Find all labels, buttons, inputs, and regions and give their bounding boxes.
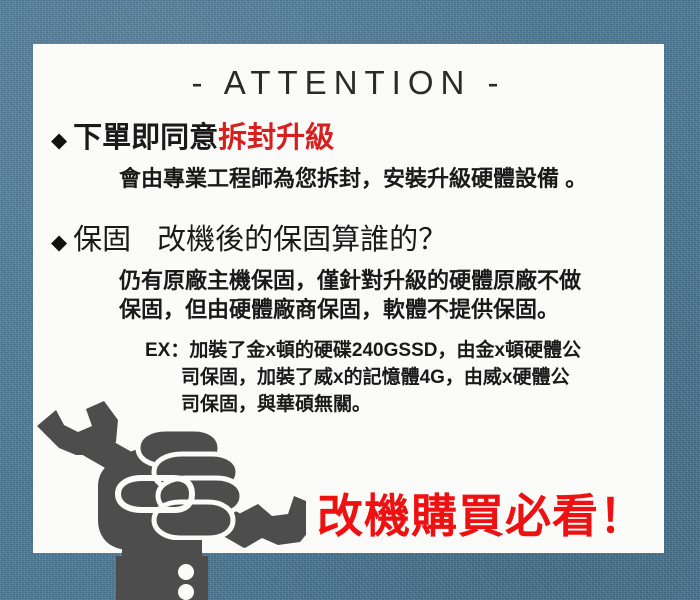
section-warranty-line-1: 仍有原廠主機保固，僅針對升級的硬體原廠不做 (33, 266, 664, 295)
sleeve-cuff (116, 556, 208, 600)
example-line-1: EX：加裝了金x頓的硬碟240GSSD，由金x頓硬體公 (145, 338, 700, 365)
section-unsealing-heading: ◆ 下單即同意 拆封升級 (33, 114, 664, 156)
section-unsealing: ◆ 下單即同意 拆封升級 會由專業工程師為您拆封，安裝升級硬體設備 。 (33, 114, 664, 193)
example-line-2: 司保固，加裝了威x的記憶體4G，由威x硬體公 (145, 365, 700, 392)
diamond-bullet-icon: ◆ (51, 232, 67, 253)
section-unsealing-heading-highlight: 拆封升級 (218, 114, 334, 156)
section-unsealing-line-1: 會由專業工程師為您拆封，安裝升級硬體設備 。 (33, 164, 664, 193)
example-block: EX：加裝了金x頓的硬碟240GSSD，由金x頓硬體公 司保固，加裝了威x的記憶… (33, 338, 700, 419)
section-warranty: ◆ 保固 改機後的保固算誰的？ 仍有原廠主機保固，僅針對升級的硬體原廠不做 保固… (33, 216, 664, 324)
page-title: - ATTENTION - (33, 64, 664, 102)
section-warranty-heading-plain: 保固 (73, 216, 131, 258)
poster-root: - ATTENTION - ◆ 下單即同意 拆封升級 會由專業工程師為您拆封，安… (0, 0, 700, 600)
section-warranty-heading: ◆ 保固 改機後的保固算誰的？ (33, 216, 664, 258)
diamond-bullet-icon: ◆ (51, 130, 67, 151)
section-warranty-heading-question: 改機後的保固算誰的？ (157, 216, 447, 258)
slogan-callout: 改機購買必看！ (317, 493, 646, 539)
section-warranty-line-2: 保固，但由硬體廠商保固，軟體不提供保固。 (33, 295, 664, 324)
example-line-3: 司保固，與華碩無關。 (145, 392, 700, 419)
white-card: - ATTENTION - ◆ 下單即同意 拆封升級 會由專業工程師為您拆封，安… (33, 44, 664, 553)
section-unsealing-heading-plain: 下單即同意 (73, 114, 218, 156)
